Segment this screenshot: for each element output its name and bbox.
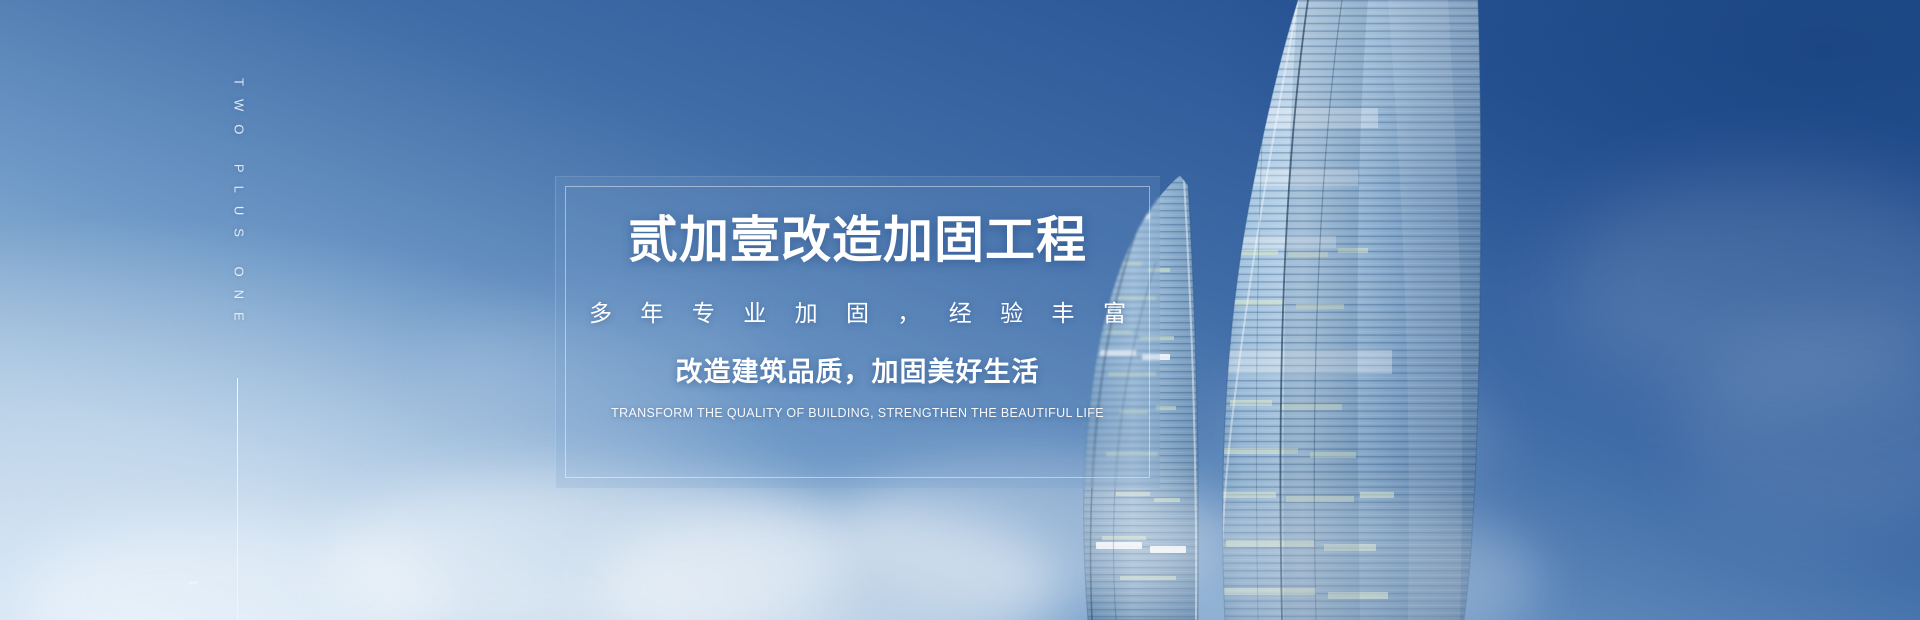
hero-title: 贰加壹改造加固工程 — [628, 214, 1087, 267]
hero-banner: TWO PLUS ONE 1 贰加壹改造加固工程 多 年 专 业 加 固 ， 经… — [0, 0, 1920, 620]
hero-text-panel: 贰加壹改造加固工程 多 年 专 业 加 固 ， 经 验 丰 富 改造建筑品质，加… — [555, 176, 1160, 488]
hero-subtitle: 多 年 专 业 加 固 ， 经 验 丰 富 — [578, 294, 1137, 328]
vertical-brand: TWO PLUS ONE — [228, 78, 250, 378]
hero-english-tagline: TRANSFORM THE QUALITY OF BUILDING, STREN… — [611, 406, 1104, 420]
vertical-brand-label: TWO PLUS ONE — [232, 78, 247, 334]
hero-text-group: 贰加壹改造加固工程 多 年 专 业 加 固 ， 经 验 丰 富 改造建筑品质，加… — [555, 176, 1160, 488]
slide-number-mark: 1 — [188, 576, 197, 590]
hero-slogan: 改造建筑品质，加固美好生活 — [676, 350, 1040, 389]
vertical-divider-line — [237, 378, 238, 620]
